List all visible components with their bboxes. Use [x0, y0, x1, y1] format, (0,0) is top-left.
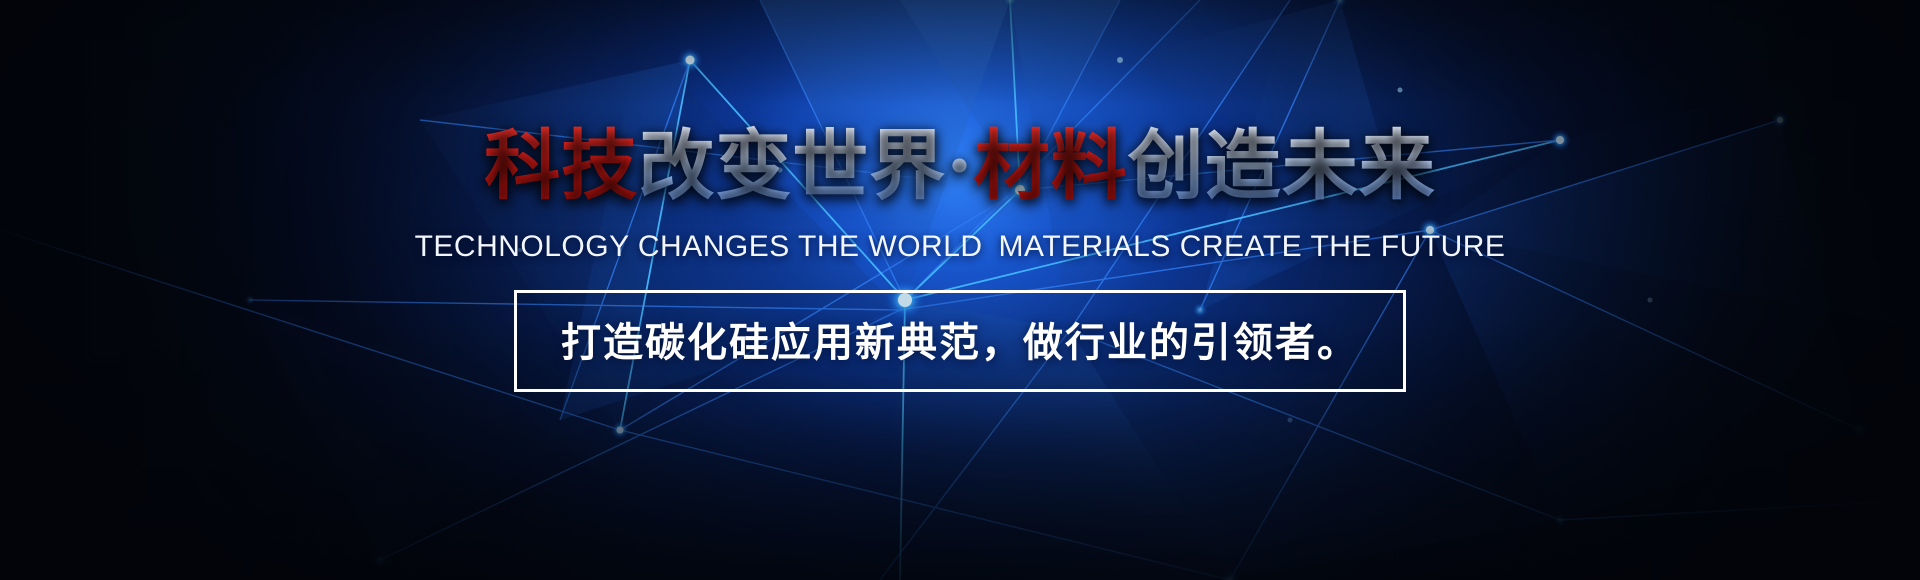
banner-content: 科技改变世界·材料创造未来 TECHNOLOGY CHANGES THE WOR…: [0, 0, 1920, 580]
subtitle-left: TECHNOLOGY CHANGES THE WORLD: [415, 230, 983, 263]
page-title: 科技改变世界·材料创造未来: [484, 128, 1435, 204]
headline-segment-silver-1: 改变世界·: [638, 121, 973, 210]
subtitle-right: MATERIALS CREATE THE FUTURE: [999, 230, 1506, 263]
tagline-frame: 打造碳化硅应用新典范，做行业的引领者。: [514, 290, 1406, 392]
tagline-text: 打造碳化硅应用新典范，做行业的引领者。: [561, 310, 1359, 368]
headline-segment-red-1: 科技: [484, 121, 638, 210]
headline-segment-silver-2: 创造未来: [1128, 121, 1436, 210]
headline-segment-red-2: 材料: [974, 121, 1128, 210]
subtitle: TECHNOLOGY CHANGES THE WORLDMATERIALS CR…: [415, 230, 1506, 264]
hero-banner: 科技改变世界·材料创造未来 TECHNOLOGY CHANGES THE WOR…: [0, 0, 1920, 580]
